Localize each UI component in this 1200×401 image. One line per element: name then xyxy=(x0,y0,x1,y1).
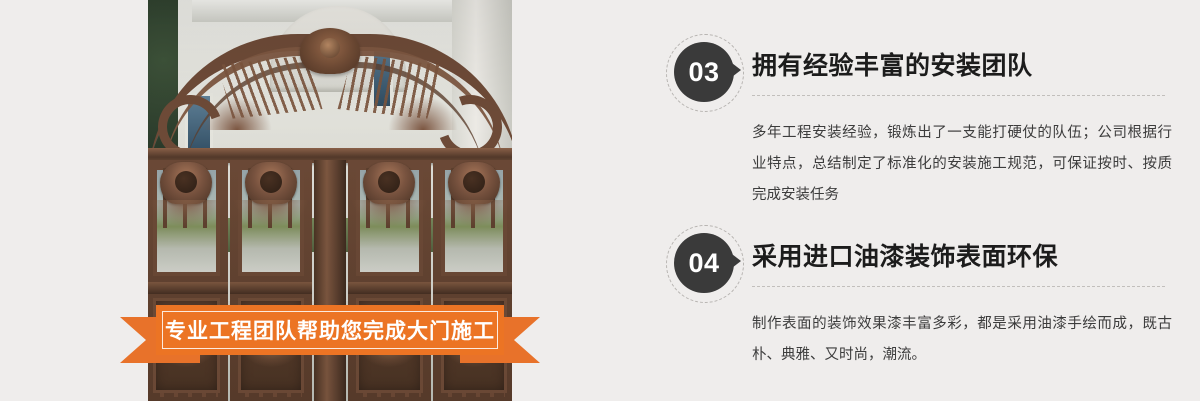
gate-medallion-shield xyxy=(448,162,500,204)
ribbon-body: 专业工程团队帮助您完成大门施工 xyxy=(156,305,504,355)
gate-medallion-shield xyxy=(160,162,212,204)
gate-crossbar xyxy=(230,282,313,294)
feature-number: 03 xyxy=(688,59,719,86)
ribbon-caption: 专业工程团队帮助您完成大门施工 xyxy=(165,315,495,345)
gate-crossbar xyxy=(433,282,513,294)
gate-wing-ornament xyxy=(234,200,309,226)
feature-badge: 03 xyxy=(666,34,744,112)
feature-divider xyxy=(752,95,1165,96)
gate-wing-ornament xyxy=(352,200,427,226)
gate-medallion-shield xyxy=(363,162,415,204)
gate-crown-finial xyxy=(300,28,360,74)
feature-item-04: 04 采用进口油漆装饰表面环保 制作表面的装饰效果漆丰富多彩，都是采用油漆手绘而… xyxy=(640,225,1200,301)
badge-circle: 03 xyxy=(674,42,734,102)
feature-list: 03 拥有经验丰富的安装团队 多年工程安装经验，锻炼出了一支能打硬仗的队伍；公司… xyxy=(640,0,1200,401)
feature-header: 04 采用进口油漆装饰表面环保 xyxy=(640,225,1200,301)
promo-banner-stage: 专业工程团队帮助您完成大门施工 03 拥有经验丰富的安装团队 多年工程安装经验，… xyxy=(0,0,1200,401)
feature-description: 制作表面的装饰效果漆丰富多彩，都是采用油漆手绘而成，既古朴、典雅、又时尚，潮流。 xyxy=(752,309,1172,371)
ribbon-banner: 专业工程团队帮助您完成大门施工 xyxy=(120,305,540,373)
feature-title: 拥有经验丰富的安装团队 xyxy=(752,46,1033,82)
feature-divider xyxy=(752,286,1165,287)
gate-crossbar xyxy=(148,282,228,294)
feature-item-03: 03 拥有经验丰富的安装团队 多年工程安装经验，锻炼出了一支能打硬仗的队伍；公司… xyxy=(640,34,1200,110)
gate-wing-ornament xyxy=(437,200,512,226)
feature-badge: 04 xyxy=(666,225,744,303)
feature-header: 03 拥有经验丰富的安装团队 xyxy=(640,34,1200,110)
gate-medallion-shield xyxy=(245,162,297,204)
gate-crossbar xyxy=(348,282,431,294)
gate-wing-ornament xyxy=(149,200,224,226)
feature-title: 采用进口油漆装饰表面环保 xyxy=(752,237,1058,273)
feature-number: 04 xyxy=(688,250,719,277)
badge-circle: 04 xyxy=(674,233,734,293)
feature-description: 多年工程安装经验，锻炼出了一支能打硬仗的队伍；公司根据行业特点，总结制定了标准化… xyxy=(752,118,1172,211)
